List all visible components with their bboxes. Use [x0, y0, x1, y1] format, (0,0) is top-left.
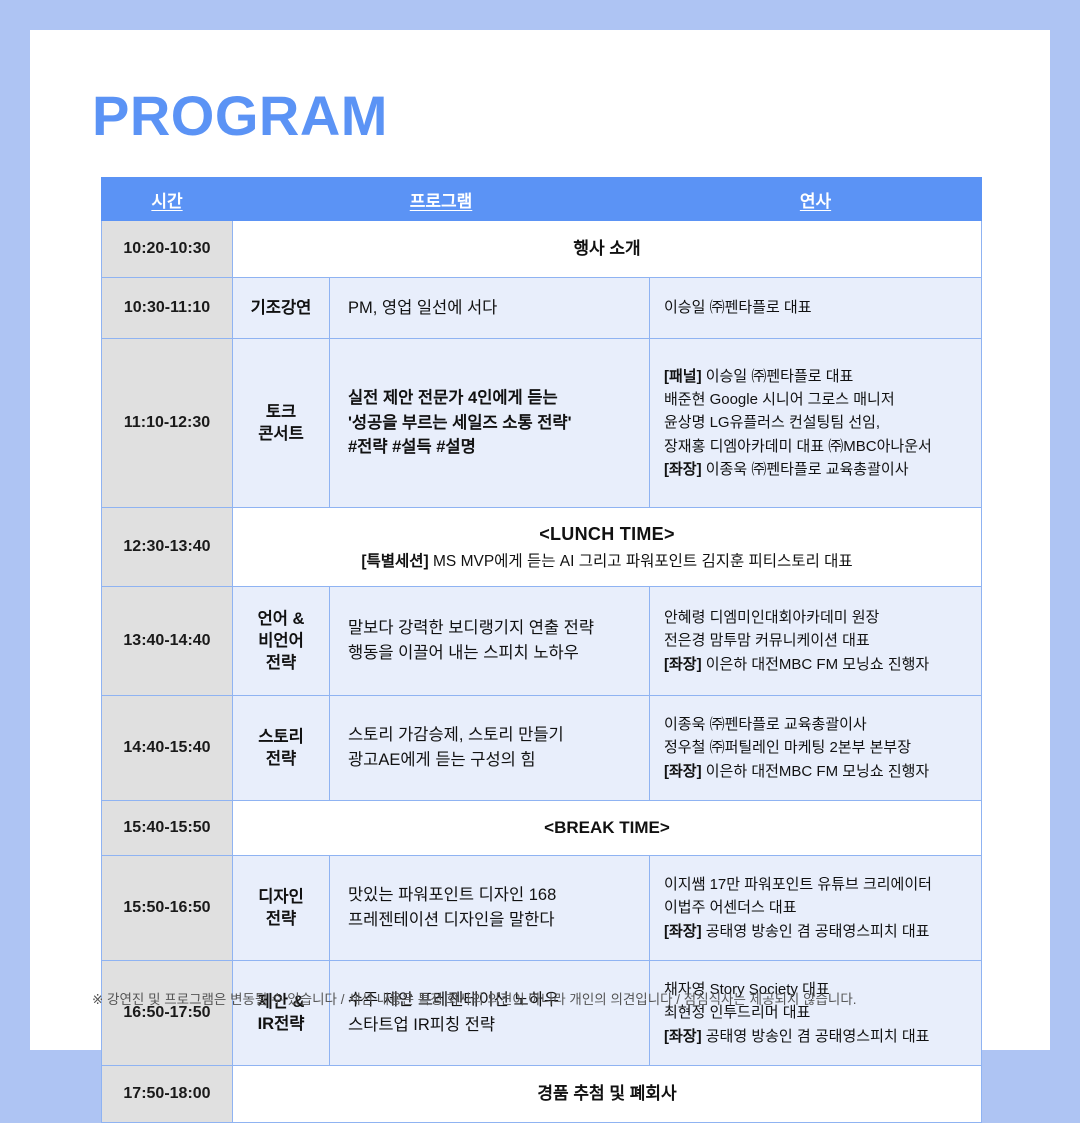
row-full-text: <BREAK TIME>	[233, 801, 982, 856]
row-program: PM, 영업 일선에 서다	[330, 278, 650, 339]
row-speakers: 안혜령 디엠미인대회아카데미 원장 전은경 맘투맘 커뮤니케이션 대표 [좌장]…	[650, 587, 982, 696]
speaker-line: [좌장] 공태영 방송인 겸 공태영스피치 대표	[664, 1025, 975, 1048]
row-program: 맛있는 파워포인트 디자인 168 프레젠테이션 디자인을 말한다	[330, 856, 650, 961]
row-time: 13:40-14:40	[102, 587, 233, 696]
speaker-line: [패널] 이승일 ㈜펜타플로 대표	[664, 365, 975, 388]
table-row: 16:50-17:50 제안 & IR전략 수주 제안 프레젠테이션 노하우 스…	[102, 961, 982, 1066]
column-header-speaker-label: 연사	[800, 192, 831, 211]
row-time: 17:50-18:00	[102, 1066, 233, 1123]
lunch-title: <LUNCH TIME>	[233, 521, 981, 547]
row-speakers: 채자영 Story Society 대표 최현정 인투드리머 대표 [좌장] 공…	[650, 961, 982, 1066]
program-line: 스토리 가감승제, 스토리 만들기	[348, 723, 649, 748]
row-speakers: [패널] 이승일 ㈜펜타플로 대표 배준현 Google 시니어 그로스 매니저…	[650, 339, 982, 508]
category-line: 언어 &	[258, 610, 305, 628]
table-row: 10:30-11:10 기조강연 PM, 영업 일선에 서다 이승일 ㈜펜타플로…	[102, 278, 982, 339]
speaker-line: 윤상명 LG유플러스 컨설팅팀 선임,	[664, 411, 975, 434]
category-line: 스토리	[258, 728, 304, 746]
category-line: 비언어	[258, 632, 304, 650]
table-row: 13:40-14:40 언어 & 비언어 전략 말보다 강력한 보디랭기지 연출…	[102, 587, 982, 696]
speaker-line: [좌장] 이은하 대전MBC FM 모닝쇼 진행자	[664, 653, 975, 676]
speaker-line: 이법주 어센더스 대표	[664, 896, 975, 919]
page-title: PROGRAM	[92, 88, 388, 144]
speaker-line: 이종욱 ㈜펜타플로 교육총괄이사	[664, 713, 975, 736]
table-row: 15:50-16:50 디자인 전략 맛있는 파워포인트 디자인 168 프레젠…	[102, 856, 982, 961]
program-line: 프레젠테이션 디자인을 말한다	[348, 908, 649, 933]
row-category: 토크 콘서트	[233, 339, 330, 508]
column-header-time: 시간	[102, 178, 233, 221]
table-row: 15:40-15:50 <BREAK TIME>	[102, 801, 982, 856]
table-row: 11:10-12:30 토크 콘서트 실전 제안 전문가 4인에게 듣는 '성공…	[102, 339, 982, 508]
program-line: 말보다 강력한 보디랭기지 연출 전략	[348, 616, 649, 641]
speaker-line: 전은경 맘투맘 커뮤니케이션 대표	[664, 629, 975, 652]
row-time: 12:30-13:40	[102, 508, 233, 587]
row-speakers: 이종욱 ㈜펜타플로 교육총괄이사 정우철 ㈜퍼틸레인 마케팅 2본부 본부장 […	[650, 696, 982, 801]
row-category: 스토리 전략	[233, 696, 330, 801]
category-line: 전략	[266, 654, 296, 672]
column-header-speaker: 연사	[650, 178, 982, 221]
row-full-text: 행사 소개	[233, 221, 982, 278]
row-speakers: 이지쌤 17만 파워포인트 유튜브 크리에이터 이법주 어센더스 대표 [좌장]…	[650, 856, 982, 961]
footnote: ※ 강연진 및 프로그램은 변동될 수 있습니다 / 세션 내용은 특정 회사의…	[92, 988, 857, 1008]
program-line: PM, 영업 일선에 서다	[348, 296, 649, 321]
table-row: 12:30-13:40 <LUNCH TIME> [특별세션] MS MVP에게…	[102, 508, 982, 587]
program-line: 스타트업 IR피칭 전략	[348, 1013, 649, 1038]
column-header-program-label: 프로그램	[410, 192, 473, 211]
row-category: 제안 & IR전략	[233, 961, 330, 1066]
row-time: 15:40-15:50	[102, 801, 233, 856]
table-header-row: 시간 프로그램 연사	[102, 178, 982, 221]
program-line: 광고AE에게 듣는 구성의 힘	[348, 748, 649, 773]
program-line: 맛있는 파워포인트 디자인 168	[348, 883, 649, 908]
speaker-line: 이승일 ㈜펜타플로 대표	[664, 296, 975, 319]
row-full-text: 경품 추첨 및 폐회사	[233, 1066, 982, 1123]
row-time: 14:40-15:40	[102, 696, 233, 801]
column-header-time-label: 시간	[151, 192, 182, 211]
speaker-line: [좌장] 이은하 대전MBC FM 모닝쇼 진행자	[664, 760, 975, 783]
row-time: 10:30-11:10	[102, 278, 233, 339]
program-schedule-table: 시간 프로그램 연사 10:20-10:30 행사 소개 10:30-11:10…	[101, 177, 982, 1123]
row-lunch: <LUNCH TIME> [특별세션] MS MVP에게 듣는 AI 그리고 파…	[233, 508, 982, 587]
row-category: 디자인 전략	[233, 856, 330, 961]
category-line: 콘서트	[258, 425, 304, 443]
row-program: 수주 제안 프레젠테이션 노하우 스타트업 IR피칭 전략	[330, 961, 650, 1066]
category-line: 디자인	[258, 888, 304, 906]
program-line: 실전 제안 전문가 4인에게 듣는	[348, 386, 649, 411]
category-line: 토크	[266, 403, 296, 421]
speaker-line: [좌장] 이종욱 ㈜펜타플로 교육총괄이사	[664, 458, 975, 481]
category-line: IR전략	[258, 1015, 305, 1033]
program-line: #전략 #설득 #설명	[348, 435, 649, 460]
program-line: '성공을 부르는 세일즈 소통 전략'	[348, 411, 649, 436]
row-speakers: 이승일 ㈜펜타플로 대표	[650, 278, 982, 339]
speaker-line: 배준현 Google 시니어 그로스 매니저	[664, 388, 975, 411]
speaker-line: 정우철 ㈜퍼틸레인 마케팅 2본부 본부장	[664, 736, 975, 759]
category-line: 전략	[266, 750, 296, 768]
row-program: 말보다 강력한 보디랭기지 연출 전략 행동을 이끌어 내는 스피치 노하우	[330, 587, 650, 696]
table-row: 10:20-10:30 행사 소개	[102, 221, 982, 278]
row-time: 11:10-12:30	[102, 339, 233, 508]
row-category: 기조강연	[233, 278, 330, 339]
row-program: 스토리 가감승제, 스토리 만들기 광고AE에게 듣는 구성의 힘	[330, 696, 650, 801]
column-header-program: 프로그램	[233, 178, 650, 221]
lunch-subtitle-tag: [특별세션]	[361, 553, 428, 570]
speaker-line: [좌장] 공태영 방송인 겸 공태영스피치 대표	[664, 920, 975, 943]
speaker-line: 안혜령 디엠미인대회아카데미 원장	[664, 606, 975, 629]
lunch-subtitle: [특별세션] MS MVP에게 듣는 AI 그리고 파워포인트 김지훈 피티스토…	[233, 551, 981, 573]
lunch-subtitle-text: MS MVP에게 듣는 AI 그리고 파워포인트 김지훈 피티스토리 대표	[429, 553, 853, 570]
row-time: 15:50-16:50	[102, 856, 233, 961]
row-program: 실전 제안 전문가 4인에게 듣는 '성공을 부르는 세일즈 소통 전략' #전…	[330, 339, 650, 508]
program-line: 행동을 이끌어 내는 스피치 노하우	[348, 641, 649, 666]
table-row: 17:50-18:00 경품 추첨 및 폐회사	[102, 1066, 982, 1123]
row-time: 16:50-17:50	[102, 961, 233, 1066]
row-category: 언어 & 비언어 전략	[233, 587, 330, 696]
poster-page: PROGRAM 시간 프로그램 연사 10:20-10:30 행사 소	[30, 30, 1050, 1050]
category-line: 전략	[266, 910, 296, 928]
table-row: 14:40-15:40 스토리 전략 스토리 가감승제, 스토리 만들기 광고A…	[102, 696, 982, 801]
speaker-line: 이지쌤 17만 파워포인트 유튜브 크리에이터	[664, 873, 975, 896]
row-time: 10:20-10:30	[102, 221, 233, 278]
speaker-line: 장재홍 디엠아카데미 대표 ㈜MBC아나운서	[664, 435, 975, 458]
